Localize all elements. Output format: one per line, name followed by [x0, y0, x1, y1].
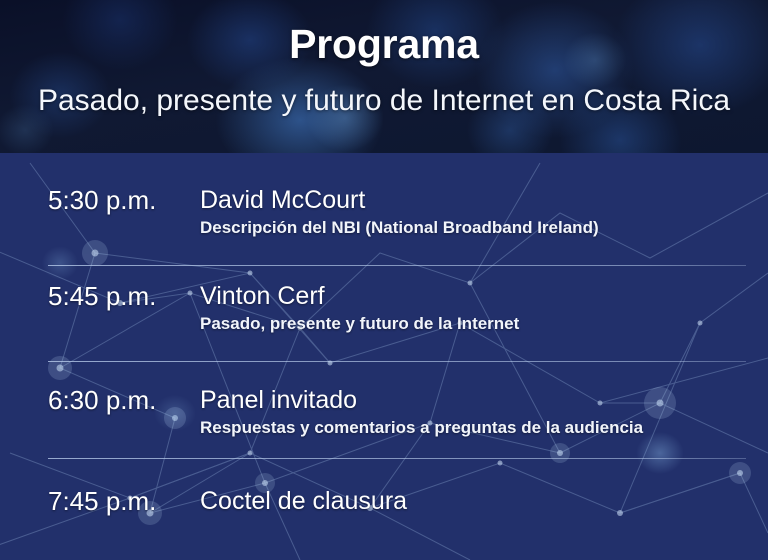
schedule-row-description: Descripción del NBI (National Broadband … — [200, 217, 599, 239]
schedule-row-title: David McCourt — [200, 185, 365, 215]
row-divider — [48, 265, 746, 266]
schedule-row-description: Respuestas y comentarios a preguntas de … — [200, 417, 643, 439]
schedule-row-time: 7:45 p.m. — [48, 486, 156, 516]
schedule-list: 5:30 p.m. David McCourt Descripción del … — [0, 153, 768, 560]
schedule-row-time: 6:30 p.m. — [48, 385, 156, 415]
schedule-row-time: 5:30 p.m. — [48, 185, 156, 215]
schedule-row-time: 5:45 p.m. — [48, 281, 156, 311]
schedule-row-title: Vinton Cerf — [200, 281, 325, 311]
row-divider — [48, 361, 746, 362]
slide-header: Programa Pasado, presente y futuro de In… — [0, 0, 768, 153]
page-title: Programa — [0, 22, 768, 66]
presentation-slide: Programa Pasado, presente y futuro de In… — [0, 0, 768, 560]
page-subtitle: Pasado, presente y futuro de Internet en… — [0, 84, 768, 118]
schedule-row-title: Coctel de clausura — [200, 486, 407, 516]
row-divider — [48, 458, 746, 459]
schedule-row-description: Pasado, presente y futuro de la Internet — [200, 313, 519, 335]
schedule-row-title: Panel invitado — [200, 385, 357, 415]
